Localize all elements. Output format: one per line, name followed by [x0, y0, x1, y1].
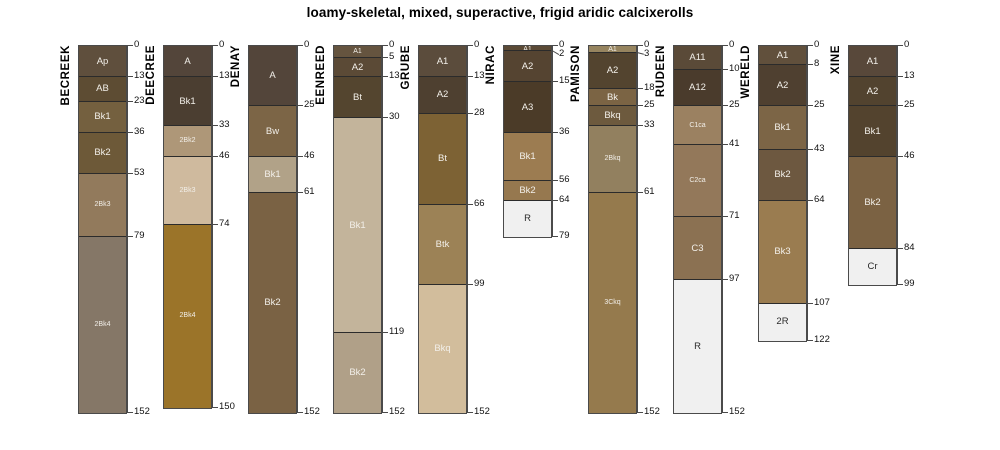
horizon-bk[interactable]: Bk: [589, 89, 636, 106]
horizon-column: ApABBk1Bk22Bk32Bk4: [78, 45, 127, 414]
axis-tick: [297, 412, 303, 413]
axis-tick: [212, 156, 218, 157]
horizon-2bk4[interactable]: 2Bk4: [79, 237, 126, 413]
soil-profile-nirac[interactable]: NIRACA1A2A3Bk1Bk2R021536566479: [487, 0, 577, 450]
axis-tick: [722, 105, 728, 106]
horizon-label: A2: [504, 62, 551, 72]
axis-tick: [807, 64, 813, 65]
horizon-label: Bk2: [334, 368, 381, 378]
axis-tick: [297, 105, 303, 106]
horizon-bk1[interactable]: Bk1: [759, 106, 806, 149]
horizon-label: A1: [419, 57, 466, 67]
horizon-a2[interactable]: A2: [334, 58, 381, 77]
depth-axis-line: [807, 45, 808, 340]
soil-profile-xine[interactable]: XINEA1A2Bk1Bk2Cr01325468499: [832, 0, 922, 450]
axis-tick: [382, 57, 388, 58]
profile-name-label: GRUBE: [400, 45, 414, 90]
horizon-bk2[interactable]: Bk2: [249, 193, 296, 413]
axis-tick-label: 25: [729, 100, 740, 110]
soil-profile-pamison[interactable]: PAMISONA1A2BkBkq2Bkq3Ckq0318253361152: [572, 0, 662, 450]
axis-tick: [127, 236, 133, 237]
horizon-c2ca[interactable]: C2ca: [674, 145, 721, 217]
axis-tick-label: 61: [304, 187, 315, 197]
axis-tick: [382, 76, 388, 77]
horizon-label: C3: [674, 244, 721, 254]
axis-tick-label: 13: [904, 71, 915, 81]
axis-tick: [807, 200, 813, 201]
axis-tick: [637, 88, 643, 89]
axis-tick-label: 13: [389, 71, 400, 81]
horizon-label: 2Bk3: [79, 201, 126, 209]
axis-tick: [807, 149, 813, 150]
horizon-label: A2: [419, 90, 466, 100]
horizon-label: A2: [589, 66, 636, 76]
horizon-bk1[interactable]: Bk1: [79, 102, 126, 133]
soil-profile-eenreed[interactable]: EENREEDA1A2BtBk1Bk2051330119152: [317, 0, 407, 450]
horizon-bk2[interactable]: Bk2: [849, 157, 896, 249]
soil-profile-grube[interactable]: GRUBEA1A2BtBtkBkq013286699152: [402, 0, 492, 450]
horizon-a2[interactable]: A2: [759, 65, 806, 106]
horizon-label: Bw: [249, 127, 296, 137]
horizon-label: A11: [674, 53, 721, 63]
horizon-column: A11A12C1caC2caC3R: [673, 45, 722, 414]
axis-tick: [212, 125, 218, 126]
horizon-label: Bk1: [334, 221, 381, 231]
axis-tick: [382, 412, 388, 413]
soil-profile-chart: BECREEKApABBk1Bk22Bk32Bk401323365379152D…: [0, 0, 1000, 450]
profile-name-label: NIRAC: [485, 45, 499, 84]
axis-tick-label: 99: [904, 279, 915, 289]
axis-tick-label: 33: [219, 120, 230, 130]
axis-tick: [127, 45, 133, 46]
axis-tick: [212, 76, 218, 77]
horizon-a[interactable]: A: [164, 46, 211, 77]
axis-tick-label: 10: [729, 64, 740, 74]
axis-tick: [297, 156, 303, 157]
horizon-label: Bk1: [164, 97, 211, 107]
axis-tick-label: 25: [904, 100, 915, 110]
horizon-a2[interactable]: A2: [419, 77, 466, 113]
depth-axis-line: [467, 45, 468, 412]
axis-tick-label: 0: [814, 40, 819, 50]
horizon-label: 2Bk3: [164, 187, 211, 195]
axis-tick: [722, 412, 728, 413]
horizon-a[interactable]: A: [249, 46, 296, 106]
horizon-label: Bt: [419, 154, 466, 164]
axis-tick: [212, 407, 218, 408]
horizon-2r[interactable]: 2R: [759, 304, 806, 340]
horizon-a11[interactable]: A11: [674, 46, 721, 70]
horizon-label: Bk: [589, 93, 636, 103]
horizon-bk1[interactable]: Bk1: [334, 118, 381, 333]
axis-tick-label: 46: [304, 151, 315, 161]
profile-name-label: PAMISON: [570, 45, 584, 102]
horizon-label: 2Bk4: [79, 321, 126, 329]
axis-tick: [127, 101, 133, 102]
profile-name-label: RUDEEN: [655, 45, 669, 97]
axis-tick: [897, 45, 903, 46]
axis-tick-label: 64: [814, 195, 825, 205]
axis-tick: [722, 216, 728, 217]
depth-axis-line: [297, 45, 298, 412]
axis-tick: [807, 105, 813, 106]
horizon-label: A: [164, 57, 211, 67]
axis-tick-label: 25: [304, 100, 315, 110]
axis-tick-label: 23: [134, 96, 145, 106]
horizon-label: A12: [674, 83, 721, 93]
axis-tick-label: 79: [559, 231, 570, 241]
axis-tick: [897, 156, 903, 157]
axis-tick: [637, 192, 643, 193]
axis-tick: [552, 180, 558, 181]
axis-tick-label: 46: [904, 151, 915, 161]
axis-tick-label: 97: [729, 274, 740, 284]
axis-tick-label: 41: [729, 139, 740, 149]
horizon-label: A: [249, 71, 296, 81]
axis-tick-label: 13: [219, 71, 230, 81]
horizon-label: A1: [589, 46, 636, 53]
axis-tick: [127, 173, 133, 174]
soil-profile-denay[interactable]: DENAYABwBk1Bk20254661152: [232, 0, 322, 450]
axis-tick-label: 18: [644, 83, 655, 93]
axis-tick-label: 13: [474, 71, 485, 81]
horizon-label: Bk2: [759, 170, 806, 180]
horizon-column: A1A2A3Bk1Bk2R: [503, 45, 552, 238]
horizon-bk2[interactable]: Bk2: [504, 181, 551, 200]
axis-tick: [382, 117, 388, 118]
axis-tick-label: 33: [644, 120, 655, 130]
horizon-label: A2: [759, 81, 806, 91]
profile-name-label: DEECREE: [145, 45, 159, 105]
horizon-btk[interactable]: Btk: [419, 205, 466, 285]
axis-tick-label: 66: [474, 199, 485, 209]
axis-tick-label: 0: [389, 40, 394, 50]
horizon-bk2[interactable]: Bk2: [759, 150, 806, 201]
horizon-label: C2ca: [674, 177, 721, 185]
axis-tick-label: 61: [644, 187, 655, 197]
horizon-column: A1A2Bk1Bk2Bk32R: [758, 45, 807, 342]
axis-tick-label: 0: [304, 40, 309, 50]
horizon-label: Ap: [79, 57, 126, 67]
horizon-a1[interactable]: A1: [759, 46, 806, 65]
horizon-a1[interactable]: A1: [849, 46, 896, 77]
horizon-label: 2R: [759, 317, 806, 327]
axis-tick: [807, 45, 813, 46]
axis-tick: [127, 132, 133, 133]
axis-tick-label: 107: [814, 298, 830, 308]
axis-tick-label: 122: [814, 335, 830, 345]
horizon-bt[interactable]: Bt: [334, 77, 381, 118]
axis-tick: [552, 81, 558, 82]
horizon-label: Bk1: [759, 123, 806, 133]
axis-tick: [807, 340, 813, 341]
horizon-2bkq[interactable]: 2Bkq: [589, 126, 636, 194]
horizon-column: A1A2BtBk1Bk2: [333, 45, 382, 414]
horizon-label: A1: [334, 48, 381, 56]
horizon-a12[interactable]: A12: [674, 70, 721, 106]
axis-tick-label: 8: [814, 59, 819, 69]
axis-tick: [467, 45, 473, 46]
axis-tick: [637, 125, 643, 126]
profile-name-label: XINE: [830, 45, 844, 74]
axis-tick-label: 71: [729, 211, 740, 221]
horizon-label: R: [504, 214, 551, 224]
axis-tick-label: 5: [389, 52, 394, 62]
axis-tick-label: 2: [559, 49, 564, 59]
horizon-label: 3Ckq: [589, 299, 636, 307]
horizon-label: C1ca: [674, 122, 721, 130]
axis-tick: [212, 224, 218, 225]
horizon-a1[interactable]: A1: [334, 46, 381, 58]
axis-tick-label: 0: [219, 40, 224, 50]
horizon-label: A2: [334, 63, 381, 73]
axis-tick: [722, 69, 728, 70]
axis-tick-label: 15: [559, 76, 570, 86]
horizon-label: Bk1: [849, 127, 896, 137]
axis-tick-label: 46: [219, 151, 230, 161]
horizon-bkq[interactable]: Bkq: [419, 285, 466, 413]
horizon-ap[interactable]: Ap: [79, 46, 126, 77]
axis-tick: [637, 105, 643, 106]
horizon-label: Bkq: [589, 111, 636, 121]
profile-name-label: WERELD: [740, 45, 754, 98]
axis-tick: [722, 144, 728, 145]
axis-tick-label: 0: [904, 40, 909, 50]
horizon-label: Btk: [419, 240, 466, 250]
axis-tick: [897, 284, 903, 285]
axis-tick-label: 13: [134, 71, 145, 81]
axis-tick: [552, 200, 558, 201]
axis-tick: [467, 113, 473, 114]
horizon-label: Bk2: [249, 298, 296, 308]
depth-axis-line: [212, 45, 213, 407]
axis-tick: [467, 284, 473, 285]
axis-tick: [722, 279, 728, 280]
axis-tick-label: 79: [134, 231, 145, 241]
horizon-3ckq[interactable]: 3Ckq: [589, 193, 636, 413]
axis-tick: [807, 303, 813, 304]
axis-tick-label: 84: [904, 243, 915, 253]
horizon-label: Bt: [334, 93, 381, 103]
horizon-a2[interactable]: A2: [504, 51, 551, 82]
axis-tick: [552, 132, 558, 133]
axis-tick-label: 0: [474, 40, 479, 50]
profile-name-label: BECREEK: [60, 45, 74, 105]
horizon-a2[interactable]: A2: [589, 53, 636, 89]
profile-name-label: EENREED: [315, 45, 329, 105]
axis-tick: [467, 412, 473, 413]
horizon-label: Bkq: [419, 344, 466, 354]
horizon-c3[interactable]: C3: [674, 217, 721, 280]
horizon-label: A1: [759, 51, 806, 61]
horizon-column: A1A2Bk1Bk2Cr: [848, 45, 897, 286]
axis-tick: [467, 204, 473, 205]
axis-tick: [722, 45, 728, 46]
axis-tick-label: 36: [134, 127, 145, 137]
horizon-label: Cr: [849, 262, 896, 272]
axis-tick-label: 53: [134, 168, 145, 178]
axis-tick-label: 74: [219, 219, 230, 229]
horizon-2bk2[interactable]: 2Bk2: [164, 126, 211, 157]
axis-tick-label: 36: [559, 127, 570, 137]
axis-tick: [552, 45, 558, 46]
axis-tick-label: 30: [389, 112, 400, 122]
horizon-column: A1A2BtBtkBkq: [418, 45, 467, 414]
axis-tick: [212, 45, 218, 46]
horizon-label: Bk2: [504, 186, 551, 196]
horizon-label: 2Bk2: [164, 137, 211, 145]
horizon-bk1[interactable]: Bk1: [849, 106, 896, 157]
horizon-r[interactable]: R: [674, 280, 721, 413]
axis-tick-label: 99: [474, 279, 485, 289]
horizon-label: Bk1: [79, 112, 126, 122]
horizon-a1[interactable]: A1: [419, 46, 466, 77]
horizon-a3[interactable]: A3: [504, 82, 551, 133]
horizon-a2[interactable]: A2: [849, 77, 896, 106]
horizon-a1[interactable]: A1: [589, 46, 636, 53]
horizon-label: Bk2: [79, 148, 126, 158]
horizon-label: 2Bkq: [589, 155, 636, 163]
axis-tick-label: 25: [644, 100, 655, 110]
horizon-bk1[interactable]: Bk1: [249, 157, 296, 193]
axis-tick: [127, 412, 133, 413]
horizon-label: Bk1: [249, 170, 296, 180]
horizon-label: A1: [849, 57, 896, 67]
axis-tick-label: 0: [729, 40, 734, 50]
axis-tick-label: 0: [134, 40, 139, 50]
soil-profile-wereld[interactable]: WERELDA1A2Bk1Bk2Bk32R08254364107122: [742, 0, 832, 450]
horizon-2bk3[interactable]: 2Bk3: [164, 157, 211, 225]
axis-tick: [897, 248, 903, 249]
axis-tick: [127, 76, 133, 77]
horizon-column: A1A2BkBkq2Bkq3Ckq: [588, 45, 637, 414]
axis-tick: [897, 76, 903, 77]
axis-tick: [637, 412, 643, 413]
depth-axis-line: [637, 45, 638, 412]
horizon-r[interactable]: R: [504, 201, 551, 237]
horizon-bk2[interactable]: Bk2: [79, 133, 126, 174]
horizon-cr[interactable]: Cr: [849, 249, 896, 285]
axis-tick-label: 43: [814, 144, 825, 154]
horizon-label: AB: [79, 84, 126, 94]
depth-axis-line: [722, 45, 723, 412]
horizon-bk1[interactable]: Bk1: [164, 77, 211, 125]
horizon-label: Bk3: [759, 247, 806, 257]
horizon-bkq[interactable]: Bkq: [589, 106, 636, 125]
soil-profile-rudeen[interactable]: RUDEENA11A12C1caC2caC3R01025417197152: [657, 0, 747, 450]
depth-axis-line: [552, 45, 553, 236]
axis-tick-label: 28: [474, 108, 485, 118]
horizon-bw[interactable]: Bw: [249, 106, 296, 157]
soil-profile-becreek[interactable]: BECREEKApABBk1Bk22Bk32Bk401323365379152: [62, 0, 152, 450]
axis-tick-label: 56: [559, 175, 570, 185]
axis-tick: [297, 192, 303, 193]
horizon-label: R: [674, 342, 721, 352]
horizon-label: 2Bk4: [164, 312, 211, 320]
axis-tick: [382, 45, 388, 46]
axis-tick: [467, 76, 473, 77]
horizon-label: Bk2: [849, 198, 896, 208]
axis-tick-label: 64: [559, 195, 570, 205]
axis-tick: [552, 236, 558, 237]
soil-profile-deecree[interactable]: DEECREEABk12Bk22Bk32Bk4013334674150: [147, 0, 237, 450]
horizon-ab[interactable]: AB: [79, 77, 126, 101]
depth-axis-line: [382, 45, 383, 412]
axis-tick: [297, 45, 303, 46]
horizon-bk1[interactable]: Bk1: [504, 133, 551, 181]
horizon-label: A3: [504, 103, 551, 113]
horizon-bk3[interactable]: Bk3: [759, 201, 806, 305]
profile-name-label: DENAY: [230, 45, 244, 87]
horizon-c1ca[interactable]: C1ca: [674, 106, 721, 145]
axis-tick-label: 25: [814, 100, 825, 110]
horizon-bt[interactable]: Bt: [419, 114, 466, 206]
horizon-column: ABwBk1Bk2: [248, 45, 297, 414]
horizon-label: A2: [849, 87, 896, 97]
axis-tick: [897, 105, 903, 106]
axis-tick: [382, 332, 388, 333]
axis-tick: [637, 45, 643, 46]
horizon-bk2[interactable]: Bk2: [334, 333, 381, 413]
axis-tick-label: 3: [644, 49, 649, 59]
horizon-column: ABk12Bk22Bk32Bk4: [163, 45, 212, 409]
horizon-label: Bk1: [504, 152, 551, 162]
horizon-2bk3[interactable]: 2Bk3: [79, 174, 126, 237]
horizon-2bk4[interactable]: 2Bk4: [164, 225, 211, 409]
